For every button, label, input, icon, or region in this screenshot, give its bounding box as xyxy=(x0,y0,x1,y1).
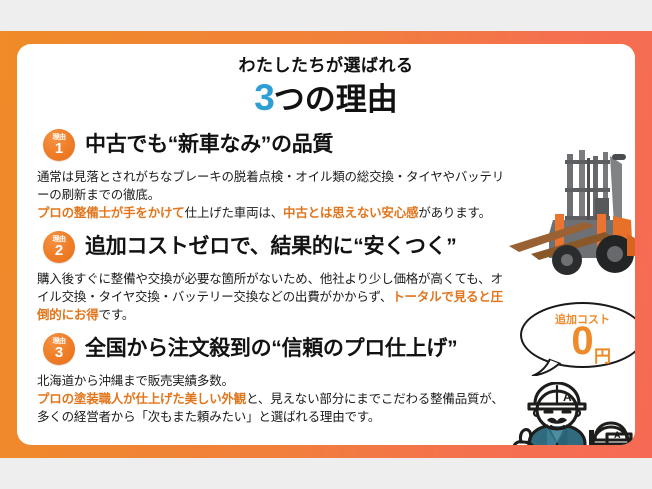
content-card: わたしたちが選ばれる 3つの理由 理由 1 中古でも“新車なみ”の品質 通常は見… xyxy=(17,44,635,445)
reason-2-title: 追加コストゼロで、結果的に“安くつく” xyxy=(85,230,456,260)
headline-rest: つの理由 xyxy=(274,82,398,117)
forklift-photo xyxy=(509,142,635,292)
page-title: 3つの理由 xyxy=(17,79,635,119)
bubble-unit: 円 xyxy=(594,342,611,367)
reason-3-badge: 理由 3 xyxy=(43,333,75,365)
header-kicker: わたしたちが選ばれる xyxy=(17,54,635,78)
reason-1-heading: 理由 1 中古でも“新車なみ”の品質 xyxy=(37,130,507,162)
reason-1-badge: 理由 1 xyxy=(43,129,75,161)
bubble-amount: 0 xyxy=(520,319,635,363)
reason-3-body: 北海道から沖縄まで販売実績多数。 プロの塗装職人が仕上げた美しい外観と、見えない… xyxy=(37,372,507,426)
reason-3-highlight-1: プロの塗装職人が仕上げた美しい外観 xyxy=(37,392,246,406)
reason-2-badge-number: 2 xyxy=(43,243,75,258)
page-header: わたしたちが選ばれる 3つの理由 xyxy=(17,54,635,119)
reason-3-badge-number: 3 xyxy=(43,345,75,360)
reason-2-heading: 理由 2 追加コストゼロで、結果的に“安くつく” xyxy=(37,232,507,264)
reason-2-body: 購入後すぐに整備や交換が必要な箇所がないため、他社より少し価格が高くても、オイル… xyxy=(37,270,507,324)
reason-1-text-2: 仕上げた車両は、 xyxy=(185,206,283,220)
svg-text:A: A xyxy=(614,430,621,440)
reason-1-highlight-2: 中古とは思えない安心感 xyxy=(283,206,418,220)
cost-speech-bubble: 追加コスト 0 円 xyxy=(520,302,635,376)
helmet-letter-text: A xyxy=(563,390,572,404)
reason-1-body: 通常は見落とされがちなブレーキの脱着点検・オイル類の総交換・タイヤやバッテリーの… xyxy=(37,168,507,222)
reason-block-1: 理由 1 中古でも“新車なみ”の品質 通常は見落とされがちなブレーキの脱着点検・… xyxy=(37,130,507,222)
reason-1-badge-number: 1 xyxy=(43,141,75,156)
reason-3-text-1: 北海道から沖縄まで販売実績多数。 xyxy=(37,374,234,388)
mascot-illustration: A A xyxy=(511,382,635,445)
headline-number: 3 xyxy=(254,77,274,118)
reason-1-text-1: 通常は見落とされがちなブレーキの脱着点検・オイル類の総交換・タイヤやバッテリーの… xyxy=(37,170,504,202)
reason-2-text-2: です。 xyxy=(99,308,135,322)
reason-1-title: 中古でも“新車なみ”の品質 xyxy=(85,128,333,158)
reason-3-title: 全国から注文殺到の“信頼のプロ仕上げ” xyxy=(85,332,457,362)
reason-block-2: 理由 2 追加コストゼロで、結果的に“安くつく” 購入後すぐに整備や交換が必要な… xyxy=(37,232,507,324)
reason-1-text-3: があります。 xyxy=(418,206,491,220)
reason-1-highlight-1: プロの整備士が手をかけて xyxy=(37,206,185,220)
reason-2-badge: 理由 2 xyxy=(43,231,75,263)
reason-block-3: 理由 3 全国から注文殺到の“信頼のプロ仕上げ” 北海道から沖縄まで販売実績多数… xyxy=(37,334,507,426)
reason-3-heading: 理由 3 全国から注文殺到の“信頼のプロ仕上げ” xyxy=(37,334,507,366)
